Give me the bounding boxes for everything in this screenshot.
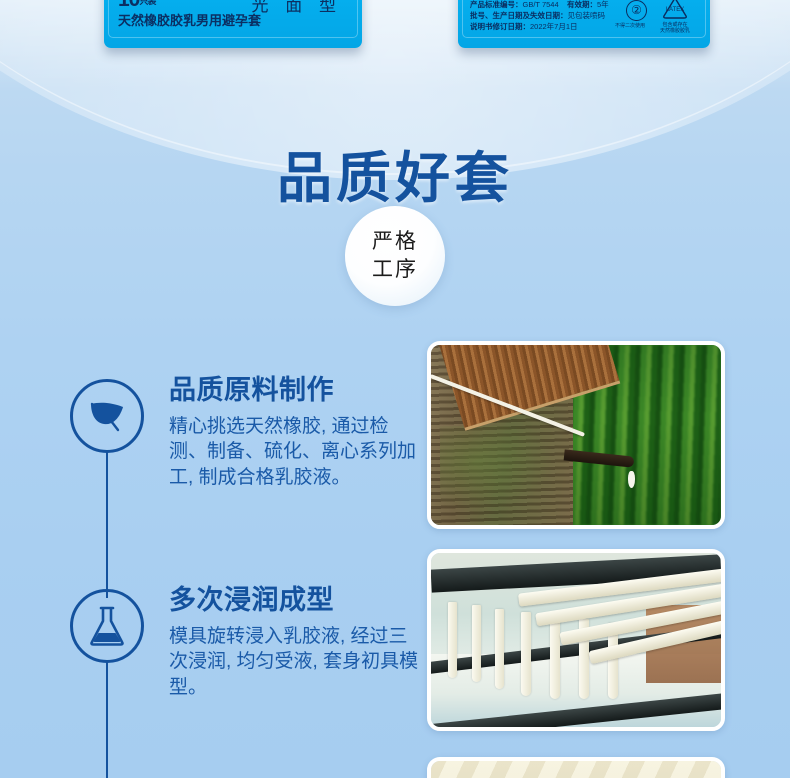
product-spec-line-1: 产品标准编号：GB/T 7544 有效期：5年 bbox=[470, 1, 609, 9]
process-badge: 严格 工序 bbox=[345, 206, 445, 306]
process-badge-line-2: 工序 bbox=[372, 256, 418, 284]
leaf-icon bbox=[85, 394, 129, 438]
no-reuse-caption: 不得二次使用 bbox=[615, 22, 645, 29]
feature-1-text: 品质原料制作 精心挑选天然橡胶, 通过检测、制备、硫化、离心系列加工, 制成合格… bbox=[169, 374, 419, 491]
product-spec-line-3: 说明书修订日期：2022年7月1日 bbox=[470, 23, 578, 31]
process-badge-line-1: 严格 bbox=[372, 228, 418, 256]
product-spec-line-2: 批号、生产日期及失效日期：见包装喷码 bbox=[470, 12, 605, 20]
product-type-label: 光 面 型 bbox=[252, 0, 342, 16]
timeline-connector-3 bbox=[106, 662, 108, 778]
feature-1-icon-circle bbox=[70, 379, 144, 453]
feature-2-title: 多次浸润成型 bbox=[169, 584, 419, 618]
product-box-right: 生产许可证编号：XK16-206-00012 闽械注准2016... 产品标准编… bbox=[458, 0, 710, 48]
feature-2-description: 模具旋转浸入乳胶液, 经过三次浸润, 均匀受液, 套身初具模型。 bbox=[169, 624, 419, 701]
feature-3-photo-partial bbox=[427, 757, 725, 778]
feature-1-description: 精心挑选天然橡胶, 通过检测、制备、硫化、离心系列加工, 制成合格乳胶液。 bbox=[169, 414, 419, 491]
rubber-tapping-image bbox=[431, 345, 721, 525]
feature-2-photo bbox=[427, 549, 725, 731]
latex-dipping-image bbox=[431, 553, 721, 727]
feature-2-text: 多次浸润成型 模具旋转浸入乳胶液, 经过三次浸润, 均匀受液, 套身初具模型。 bbox=[169, 584, 419, 701]
no-reuse-icon: ② bbox=[626, 0, 647, 21]
feature-1-photo bbox=[427, 341, 725, 529]
page-title: 品质好套 bbox=[0, 133, 790, 213]
latex-badge-caption: 包含或存在天然橡胶胶乳 bbox=[654, 22, 696, 35]
product-subtitle: 天然橡胶胶乳男用避孕套 bbox=[118, 10, 261, 29]
product-box-left: 10只装 天然橡胶胶乳男用避孕套 光 面 型 bbox=[104, 0, 362, 48]
latex-badge-icon: LATEX bbox=[662, 0, 688, 20]
latex-badge-label: LATEX bbox=[666, 7, 685, 13]
feature-1-title: 品质原料制作 bbox=[169, 374, 419, 408]
latex-product-image bbox=[431, 761, 721, 778]
flask-icon bbox=[86, 604, 128, 648]
product-detail-page: 10只装 天然橡胶胶乳男用避孕套 光 面 型 生产许可证编号：XK16-206-… bbox=[0, 0, 790, 778]
feature-2-icon-circle bbox=[70, 589, 144, 663]
process-badge-circle: 严格 工序 bbox=[345, 206, 445, 306]
